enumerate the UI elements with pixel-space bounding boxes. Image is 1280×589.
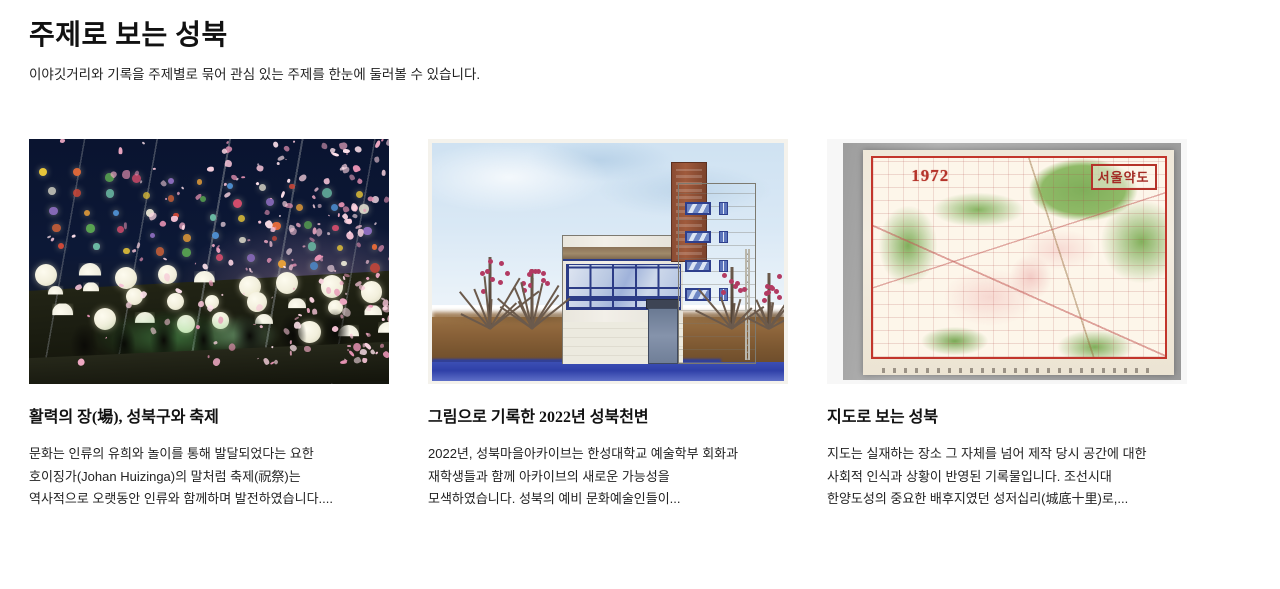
cherry-petal <box>328 215 330 217</box>
page-title: 주제로 보는 성북 <box>29 18 1280 53</box>
cherry-petal <box>87 315 91 319</box>
cherry-petal <box>274 227 276 230</box>
theme-thumbnail-map[interactable]: 1972 서울약도 <box>827 139 1187 384</box>
painting-tree-blossom <box>490 277 495 282</box>
theme-card-title[interactable]: 활력의 장(場), 성북구와 축제 <box>29 408 389 429</box>
cherry-petal <box>217 316 224 325</box>
cherry-petal <box>307 308 311 313</box>
cherry-petal <box>279 214 281 216</box>
cherry-petal <box>182 225 185 230</box>
cherry-petal <box>290 259 293 262</box>
theme-card[interactable]: 그림으로 기록한 2022년 성북천변 2022년, 성북마을아카이브는 한성대… <box>428 139 788 511</box>
cherry-petal <box>140 181 142 184</box>
cherry-petal <box>382 170 386 176</box>
cherry-petal <box>202 263 209 270</box>
painting-building-front <box>562 235 683 365</box>
cherry-petal <box>125 301 132 309</box>
cherry-petal <box>333 288 342 297</box>
cherry-petal <box>387 254 389 262</box>
cherry-petal <box>382 318 385 321</box>
cherry-petal <box>354 145 363 154</box>
cherry-petal <box>176 192 180 196</box>
cherry-petal <box>312 308 317 314</box>
cherry-petal <box>256 182 260 186</box>
theme-card[interactable]: 활력의 장(場), 성북구와 축제 문화는 인류의 유희와 놀이를 통해 발달되… <box>29 139 389 511</box>
cherry-petal <box>373 156 380 163</box>
cherry-petal <box>285 247 293 255</box>
cherry-petal <box>211 244 215 248</box>
cherry-petal <box>380 343 384 348</box>
cherry-petal <box>326 287 332 294</box>
cherry-petal <box>383 196 389 204</box>
cherry-petal <box>243 292 245 294</box>
cherry-petal <box>268 241 272 247</box>
cherry-petal <box>205 304 213 312</box>
painting-tree <box>464 257 516 329</box>
cherry-petal <box>257 358 259 360</box>
cherry-petal <box>263 240 268 244</box>
cherry-petal <box>350 333 354 339</box>
cherry-petal <box>277 162 280 165</box>
theme-card-grid: 활력의 장(場), 성북구와 축제 문화는 인류의 유희와 놀이를 통해 발달되… <box>29 139 1251 511</box>
cherry-petal <box>280 191 286 199</box>
cherry-petal <box>264 209 271 216</box>
cherry-petal <box>207 355 209 359</box>
cherry-petal <box>347 345 351 347</box>
painting-tree-blossom <box>499 261 504 266</box>
cherry-petal <box>315 227 324 236</box>
theme-card-title[interactable]: 그림으로 기록한 2022년 성북천변 <box>428 408 788 429</box>
painting-tree-blossom <box>777 295 782 300</box>
cherry-petal <box>296 222 302 227</box>
cherry-petal <box>142 142 145 145</box>
cherry-petal <box>340 281 345 286</box>
cherry-petal <box>175 287 183 294</box>
cherry-petal <box>365 260 369 264</box>
painting-tree <box>509 269 555 329</box>
cherry-petal <box>382 350 389 359</box>
cherry-petal <box>137 243 141 249</box>
cherry-petal <box>360 348 368 355</box>
cherry-petal <box>213 341 218 345</box>
painting-window <box>685 231 711 244</box>
cherry-petal <box>207 167 214 172</box>
cherry-petal <box>339 297 348 306</box>
cherry-petal <box>271 296 273 298</box>
cherry-petal <box>348 174 355 182</box>
festival-petals <box>29 139 389 384</box>
theme-card-description: 2022년, 성북마을아카이브는 한성대학교 예술학부 회화과 재학생들과 함께… <box>428 443 788 511</box>
cherry-petal <box>352 356 361 365</box>
cherry-petal <box>318 223 321 225</box>
cherry-petal <box>223 183 226 186</box>
cherry-petal <box>374 222 377 226</box>
cherry-petal <box>163 318 171 326</box>
cherry-petal <box>386 139 389 147</box>
cherry-petal <box>366 306 372 312</box>
cherry-petal <box>71 234 75 237</box>
cherry-petal <box>228 342 237 351</box>
cherry-petal <box>302 245 306 248</box>
painting-window <box>685 260 711 273</box>
cherry-petal <box>363 209 368 214</box>
theme-card-description: 지도는 실재하는 장소 그 자체를 넘어 제작 당시 공간에 대한 사회적 인식… <box>827 443 1187 511</box>
cherry-petal <box>265 256 272 263</box>
cherry-petal <box>259 325 263 328</box>
cherry-petal <box>318 278 324 285</box>
painting-tree-blossom <box>774 289 779 294</box>
cherry-petal <box>165 198 168 201</box>
cherry-petal <box>304 346 311 352</box>
cherry-petal <box>330 325 339 334</box>
cherry-petal <box>289 227 297 235</box>
cherry-petal <box>352 164 361 173</box>
cherry-petal <box>221 294 224 296</box>
cherry-petal <box>353 214 359 220</box>
map-legend-strip <box>882 368 1156 373</box>
cherry-petal <box>257 221 261 224</box>
cherry-petal <box>377 245 385 253</box>
cherry-petal <box>223 192 231 199</box>
theme-thumbnail-painting[interactable] <box>428 139 788 384</box>
cherry-petal <box>283 265 287 268</box>
theme-card-description: 문화는 인류의 유희와 놀이를 통해 발달되었다는 요한 호이징가(Johan … <box>29 443 389 511</box>
cherry-petal <box>282 327 291 336</box>
painting-tree-blossom <box>498 280 503 285</box>
cherry-petal <box>363 344 366 348</box>
map-red-border: 1972 서울약도 <box>871 156 1167 359</box>
cherry-petal <box>139 290 148 299</box>
cherry-petal <box>285 158 288 160</box>
cherry-petal <box>293 140 295 143</box>
cherry-petal <box>104 337 106 339</box>
painting-tree-blossom <box>722 273 727 278</box>
cherry-petal <box>346 153 349 156</box>
cherry-petal <box>208 280 213 286</box>
map-paper: 1972 서울약도 <box>863 150 1174 375</box>
cherry-petal <box>59 139 64 143</box>
painting-canvas <box>432 143 784 381</box>
cherry-petal <box>374 271 380 277</box>
cherry-petal <box>286 178 290 182</box>
cherry-petal <box>272 141 278 148</box>
cherry-petal <box>133 170 139 177</box>
cherry-petal <box>212 357 221 367</box>
cherry-petal <box>195 325 200 330</box>
theme-thumbnail-festival[interactable] <box>29 139 389 384</box>
cherry-petal <box>122 169 130 178</box>
cherry-petal <box>356 242 363 249</box>
cherry-petal <box>270 198 272 200</box>
cherry-petal <box>357 229 364 237</box>
painting-window-narrow <box>719 231 729 244</box>
cherry-petal <box>160 180 168 188</box>
painting-tree-blossom <box>735 281 740 286</box>
cherry-petal <box>77 358 86 367</box>
cherry-petal <box>283 145 291 153</box>
cherry-petal <box>255 303 264 312</box>
page-header: 주제로 보는 성북 이야깃거리와 기록을 주제별로 묶어 관심 있는 주제를 한… <box>0 0 1280 85</box>
map-title-cartouche: 서울약도 <box>1091 164 1157 190</box>
map-frame: 1972 서울약도 <box>843 143 1181 380</box>
cherry-petal <box>298 174 308 183</box>
painting-tree <box>749 273 784 329</box>
cherry-petal <box>148 212 158 221</box>
painting-entrance <box>648 308 678 365</box>
cherry-petal <box>228 259 234 266</box>
cherry-petal <box>224 159 232 167</box>
cherry-petal <box>361 358 367 364</box>
cherry-petal <box>324 177 331 184</box>
cherry-petal <box>293 287 296 290</box>
cherry-petal <box>317 204 321 208</box>
cherry-petal <box>309 236 316 242</box>
cherry-petal <box>366 332 370 337</box>
cherry-petal <box>171 216 178 222</box>
cherry-petal <box>51 237 55 241</box>
cherry-petal <box>162 257 167 261</box>
cherry-petal <box>150 327 157 335</box>
cherry-petal <box>256 165 264 172</box>
cherry-petal <box>119 283 124 287</box>
painting-tree-blossom <box>729 279 734 284</box>
cherry-petal <box>314 187 320 192</box>
painting-tree-blossom <box>742 287 747 292</box>
painting-tree-blossom <box>541 271 546 276</box>
cherry-petal <box>119 147 123 155</box>
cherry-petal <box>345 292 348 295</box>
themes-page: 주제로 보는 성북 이야깃거리와 기록을 주제별로 묶어 관심 있는 주제를 한… <box>0 0 1280 589</box>
cherry-petal <box>197 301 204 308</box>
painting-tree-blossom <box>485 269 490 274</box>
cherry-petal <box>342 205 350 213</box>
cherry-petal <box>74 284 82 291</box>
cherry-petal <box>356 178 363 185</box>
cherry-petal <box>163 273 171 282</box>
painting-window-narrow <box>719 202 729 215</box>
cherry-petal <box>292 264 297 268</box>
cherry-petal <box>244 268 248 272</box>
cherry-petal <box>194 263 196 266</box>
painting-tree-blossom <box>721 290 726 295</box>
cherry-petal <box>109 170 117 178</box>
cherry-petal <box>124 222 127 229</box>
painting-tree-blossom <box>488 259 493 264</box>
painting-window <box>685 202 711 215</box>
cherry-petal <box>348 350 355 358</box>
cherry-petal <box>326 264 335 272</box>
cherry-petal <box>338 213 340 217</box>
painting-signboard <box>563 247 683 261</box>
cherry-petal <box>270 345 273 348</box>
cherry-petal <box>321 143 328 150</box>
cherry-petal <box>159 220 167 228</box>
theme-card-title[interactable]: 지도로 보는 성북 <box>827 408 1187 429</box>
painting-tree-blossom <box>777 274 782 279</box>
cherry-petal <box>293 316 299 321</box>
cherry-petal <box>381 139 384 142</box>
cherry-petal <box>139 257 144 262</box>
cherry-petal <box>290 351 293 356</box>
cherry-petal <box>298 313 302 316</box>
cherry-petal <box>132 249 137 254</box>
cherry-petal <box>387 314 389 324</box>
cherry-petal <box>251 271 253 273</box>
cherry-petal <box>152 168 155 170</box>
theme-card[interactable]: 1972 서울약도 지도로 보는 성북 지도는 실재하는 장소 그 자체를 넘어… <box>827 139 1187 511</box>
page-subtitle: 이야깃거리와 기록을 주제별로 묶어 관심 있는 주제를 한눈에 둘러볼 수 있… <box>29 65 1280 85</box>
painting-stream <box>432 362 784 381</box>
cherry-petal <box>312 194 316 199</box>
cherry-petal <box>241 176 245 178</box>
cherry-petal <box>274 360 280 366</box>
cherry-petal <box>252 324 255 326</box>
cherry-petal <box>221 222 226 227</box>
cherry-petal <box>295 322 302 330</box>
cherry-petal <box>247 239 250 242</box>
cherry-petal <box>195 194 203 201</box>
cherry-petal <box>326 232 330 236</box>
cherry-petal <box>226 140 230 144</box>
painting-tree-blossom <box>545 281 550 286</box>
cherry-petal <box>359 284 366 291</box>
cherry-petal <box>263 357 270 366</box>
cherry-petal <box>366 276 371 281</box>
cherry-petal <box>312 204 315 208</box>
cherry-petal <box>180 186 184 190</box>
map-year-label: 1972 <box>911 166 949 186</box>
